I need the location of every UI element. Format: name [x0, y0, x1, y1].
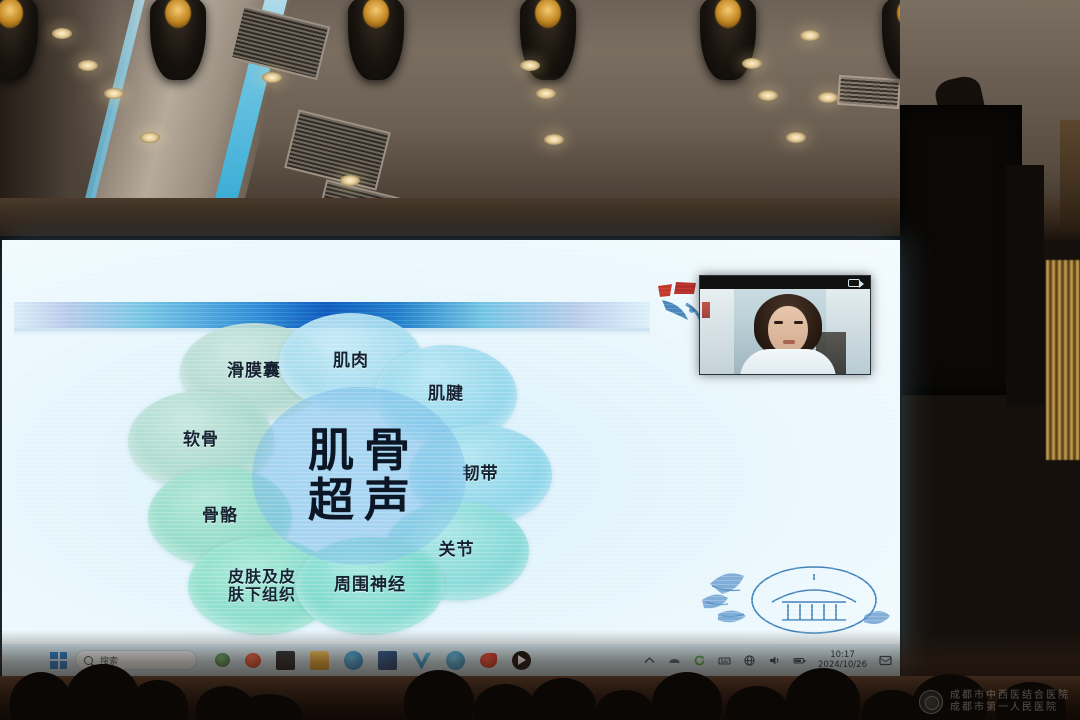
video-call-window[interactable]: [699, 275, 871, 375]
speaker-mouth: [783, 340, 795, 344]
air-vent-icon: [284, 109, 391, 190]
ceiling-downlight: [78, 60, 98, 71]
audience-head: [474, 684, 536, 720]
ceiling-downlight: [742, 58, 762, 69]
watermark-line-1: 成都市中西医结合医院: [950, 690, 1070, 702]
audience-head: [596, 690, 654, 720]
stage-spotlight: [150, 0, 206, 80]
ceiling-downlight: [104, 88, 124, 99]
speaker-white-coat: [740, 349, 836, 375]
conference-hall-photo: 滑膜囊 肌肉 肌腱 软骨 韧带 骨骼 关节 皮肤及皮 肤下组织 周围神经 肌骨 …: [0, 0, 1080, 720]
audience-head: [128, 680, 188, 720]
speaker-face: [768, 306, 808, 354]
musculoskeletal-ultrasound-diagram: 滑膜囊 肌肉 肌腱 软骨 韧带 骨骼 关节 皮肤及皮 肤下组织 周围神经 肌骨 …: [112, 315, 612, 635]
audience-head: [10, 672, 72, 720]
speaker-eye-right: [794, 321, 803, 324]
camera-icon[interactable]: [848, 279, 860, 287]
diagram-center-title: 肌骨 超声: [252, 387, 466, 565]
center-title-line-2: 超声: [298, 476, 420, 526]
ceiling-downlight: [140, 132, 160, 143]
projection-screen: 滑膜囊 肌肉 肌腱 软骨 韧带 骨骼 关节 皮肤及皮 肤下组织 周围神经 肌骨 …: [2, 240, 900, 676]
crystal-wall-lamp: [1046, 260, 1080, 460]
video-window-titlebar: [700, 276, 870, 289]
pa-speaker-cabinet: [900, 105, 1022, 395]
ceiling-downlight: [818, 92, 838, 103]
video-background-poster: [702, 302, 710, 318]
audience-head: [652, 672, 722, 720]
audience-head: [726, 686, 788, 720]
speaker-eye-left: [774, 321, 783, 324]
stage-spotlight: [348, 0, 404, 80]
ceiling-downlight: [544, 134, 564, 145]
air-vent-icon: [837, 75, 901, 109]
audience-silhouettes: [0, 630, 1080, 720]
institution-seal-icon: [919, 690, 943, 714]
watermark: 成都市中西医结合医院 成都市第一人民医院: [919, 690, 1070, 714]
audience-head: [786, 668, 860, 720]
audience-head: [530, 678, 596, 720]
wall-sconce: [1060, 120, 1080, 230]
ceiling-downlight: [758, 90, 778, 101]
pavilion-illustration-icon: [696, 556, 892, 640]
ceiling-downlight: [800, 30, 820, 41]
ceiling-downlight: [536, 88, 556, 99]
ceiling-downlight: [520, 60, 540, 71]
watermark-line-2: 成都市第一人民医院: [950, 702, 1070, 714]
ceiling-downlight: [340, 175, 360, 186]
pa-speaker-cabinet-secondary: [1006, 165, 1044, 405]
ceiling-downlight: [52, 28, 72, 39]
center-title-line-1: 肌骨: [298, 426, 420, 476]
audience-head: [404, 670, 474, 720]
ceiling-downlight: [262, 72, 282, 83]
ceiling-downlight: [786, 132, 806, 143]
